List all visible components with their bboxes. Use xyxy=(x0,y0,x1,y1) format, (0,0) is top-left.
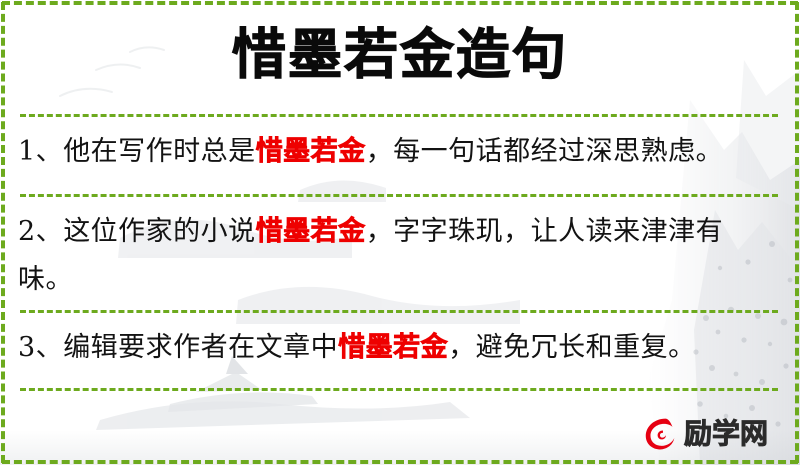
idiom-sentence-card: 惜墨若金造句 1、他在写作时总是惜墨若金，每一句话都经过深思熟虑。 2、这位作家… xyxy=(0,0,800,465)
sentence-text-before: 他在写作时总是 xyxy=(63,136,256,167)
sentence-number: 1、 xyxy=(18,136,63,167)
sentence-text-after: ，每一句话都经过深思熟虑。 xyxy=(366,136,724,167)
idiom-highlight: 惜墨若金 xyxy=(338,332,448,363)
logo-wordmark: 励学网 xyxy=(684,419,768,449)
site-logo[interactable]: 励学网 xyxy=(641,415,768,453)
red-swirl-icon xyxy=(641,415,679,453)
border-top xyxy=(2,1,798,5)
sentence-text-after: ，避免冗长和重复。 xyxy=(448,332,696,363)
divider-3 xyxy=(20,310,778,313)
divider-1 xyxy=(20,114,778,117)
divider-4 xyxy=(20,388,778,391)
divider-2 xyxy=(20,194,778,197)
sentence-number: 2、 xyxy=(18,216,63,247)
border-bottom xyxy=(2,460,798,464)
page-title: 惜墨若金造句 xyxy=(0,20,800,88)
sentence-text-before: 这位作家的小说 xyxy=(63,216,256,247)
example-sentence-1: 1、他在写作时总是惜墨若金，每一句话都经过深思熟虑。 xyxy=(18,128,766,176)
idiom-highlight: 惜墨若金 xyxy=(256,216,366,247)
idiom-highlight: 惜墨若金 xyxy=(256,136,366,167)
sentence-text-before: 编辑要求作者在文章中 xyxy=(63,332,338,363)
example-sentence-3: 3、编辑要求作者在文章中惜墨若金，避免冗长和重复。 xyxy=(18,324,766,372)
example-sentence-2: 2、这位作家的小说惜墨若金，字字珠玑，让人读来津津有味。 xyxy=(18,208,766,304)
sentence-number: 3、 xyxy=(18,332,63,363)
